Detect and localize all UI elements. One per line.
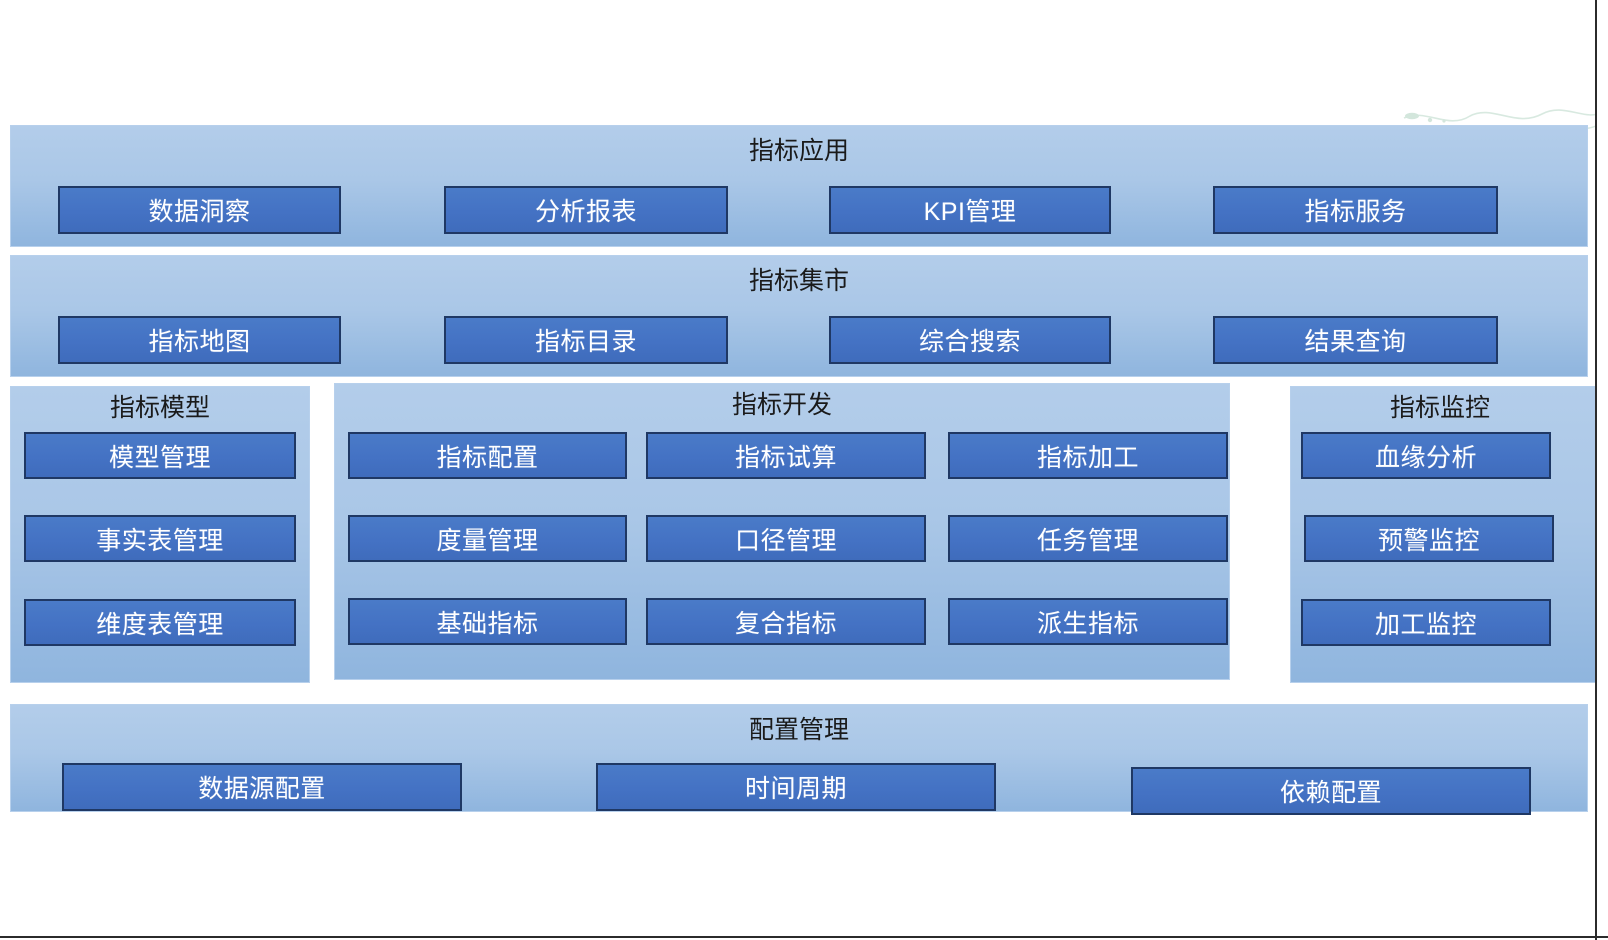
app-item-analysis-report[interactable]: 分析报表 — [444, 186, 728, 234]
mart-item-indicator-map[interactable]: 指标地图 — [58, 316, 341, 364]
dev-item-measure-management[interactable]: 度量管理 — [348, 515, 627, 562]
slide-bottom-edge — [0, 936, 1608, 940]
layer-title-indicator-mart: 指标集市 — [11, 266, 1587, 296]
layer-panel-configuration-management: 配置管理 数据源配置 时间周期 依赖配置 — [10, 704, 1588, 812]
monitor-item-processing-monitoring[interactable]: 加工监控 — [1301, 599, 1551, 646]
architecture-diagram-canvas: 指标应用 数据洞察 分析报表 KPI管理 指标服务 指标集市 指标地图 指标目录… — [0, 0, 1608, 940]
layer-panel-indicator-application: 指标应用 数据洞察 分析报表 KPI管理 指标服务 — [10, 125, 1588, 247]
dev-item-derived-indicator[interactable]: 派生指标 — [948, 598, 1228, 645]
layer-panel-indicator-monitoring: 指标监控 血缘分析 预警监控 加工监控 — [1290, 386, 1608, 683]
mart-item-result-query[interactable]: 结果查询 — [1213, 316, 1498, 364]
app-item-indicator-service[interactable]: 指标服务 — [1213, 186, 1498, 234]
slide-right-edge — [1595, 0, 1608, 940]
dev-item-task-management[interactable]: 任务管理 — [948, 515, 1228, 562]
dev-item-composite-indicator[interactable]: 复合指标 — [646, 598, 926, 645]
layer-panel-indicator-mart: 指标集市 指标地图 指标目录 综合搜索 结果查询 — [10, 255, 1588, 377]
dev-item-basic-indicator[interactable]: 基础指标 — [348, 598, 627, 645]
layer-title-indicator-monitoring: 指标监控 — [1291, 393, 1589, 423]
layer-title-indicator-development: 指标开发 — [335, 390, 1229, 420]
mart-item-indicator-catalog[interactable]: 指标目录 — [444, 316, 728, 364]
mart-item-comprehensive-search[interactable]: 综合搜索 — [829, 316, 1111, 364]
config-item-datasource-configuration[interactable]: 数据源配置 — [62, 763, 462, 811]
model-item-dimension-table-management[interactable]: 维度表管理 — [24, 599, 296, 646]
monitor-item-lineage-analysis[interactable]: 血缘分析 — [1301, 432, 1551, 479]
layer-title-indicator-application: 指标应用 — [11, 136, 1587, 166]
monitor-item-alert-monitoring[interactable]: 预警监控 — [1304, 515, 1554, 562]
dev-item-caliber-management[interactable]: 口径管理 — [646, 515, 926, 562]
dev-item-indicator-trial-calculation[interactable]: 指标试算 — [646, 432, 926, 479]
app-item-kpi-management[interactable]: KPI管理 — [829, 186, 1111, 234]
dev-item-indicator-configuration[interactable]: 指标配置 — [348, 432, 627, 479]
model-item-fact-table-management[interactable]: 事实表管理 — [24, 515, 296, 562]
model-item-model-management[interactable]: 模型管理 — [24, 432, 296, 479]
layer-title-configuration-management: 配置管理 — [11, 715, 1587, 745]
app-item-data-insight[interactable]: 数据洞察 — [58, 186, 341, 234]
config-item-dependency-configuration[interactable]: 依赖配置 — [1131, 767, 1531, 815]
config-item-time-period[interactable]: 时间周期 — [596, 763, 996, 811]
layer-title-indicator-model: 指标模型 — [11, 393, 309, 423]
layer-panel-indicator-development: 指标开发 指标配置 指标试算 指标加工 度量管理 口径管理 任务管理 基础指标 … — [334, 383, 1230, 680]
dev-item-indicator-processing[interactable]: 指标加工 — [948, 432, 1228, 479]
layer-panel-indicator-model: 指标模型 模型管理 事实表管理 维度表管理 — [10, 386, 310, 683]
